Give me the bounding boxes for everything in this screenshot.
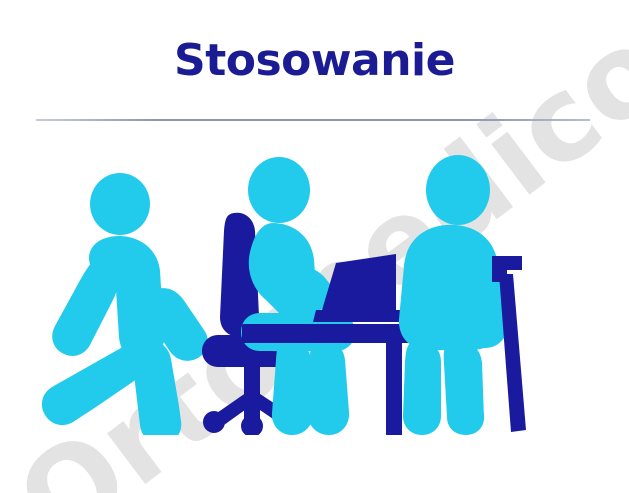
crutch-user-body-shape <box>399 155 507 435</box>
crutch-user-icon <box>380 150 540 435</box>
title-divider <box>36 119 590 121</box>
walking-person-icon <box>18 150 218 435</box>
page-title: Stosowanie <box>0 38 629 84</box>
title-block: Stosowanie <box>0 38 629 84</box>
slide-canvas: Ortomedico.pl Stosowanie <box>0 0 629 493</box>
figure-group <box>0 150 629 435</box>
